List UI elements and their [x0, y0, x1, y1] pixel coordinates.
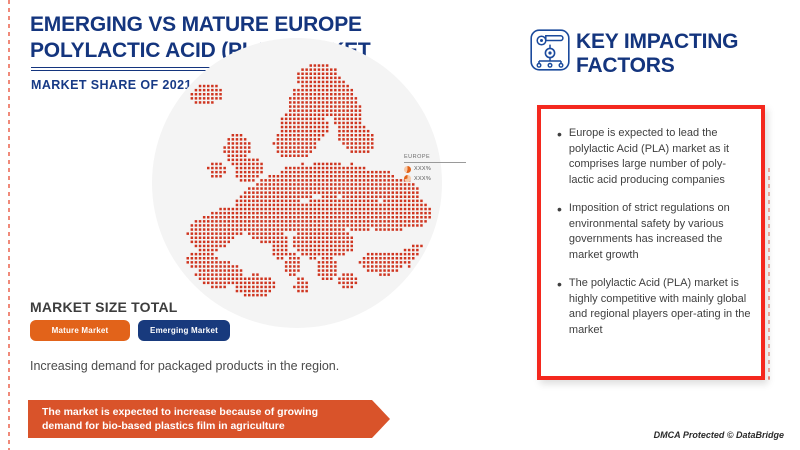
bullet-icon: • [557, 276, 562, 338]
list-item: • The polylactic Acid (PLA) market is hi… [557, 276, 751, 338]
list-item-text: Europe is expected to lead the polylacti… [569, 126, 751, 188]
europe-dot-map [152, 38, 442, 328]
footer-credit: DMCA Protected © DataBridge [654, 430, 784, 440]
key-factors-box: • Europe is expected to lead the polylac… [537, 105, 765, 380]
list-item-text: Imposition of strict regulations on envi… [569, 201, 751, 263]
legend-value: XXX% [414, 176, 431, 182]
map-legend: EUROPE XXX% XXX% [404, 154, 470, 182]
list-item: • Imposition of strict regulations on en… [557, 201, 751, 263]
list-item-text: The polylactic Acid (PLA) market is high… [569, 276, 751, 338]
bullet-icon: • [557, 201, 562, 263]
left-dotted-rail [8, 0, 10, 450]
key-factors-title: KEY IMPACTING FACTORS [576, 30, 776, 78]
lead-statement: Increasing demand for packaged products … [30, 359, 339, 373]
market-size-heading: MARKET SIZE TOTAL [30, 299, 178, 315]
infographic-slide: EMERGING VS MATURE EUROPE POLYLACTIC ACI… [0, 0, 800, 450]
list-item: • Europe is expected to lead the polylac… [557, 126, 751, 188]
bullet-icon: • [557, 126, 562, 188]
highlight-banner: The market is expected to increase becau… [28, 400, 390, 438]
legend-row: XXX% [404, 175, 470, 182]
pill-emerging-market[interactable]: Emerging Market [138, 320, 230, 341]
highlight-banner-text: The market is expected to increase becau… [28, 405, 358, 433]
legend-row: XXX% [404, 166, 470, 173]
market-type-pills: Mature Market Emerging Market [30, 320, 230, 341]
key-factors-list: • Europe is expected to lead the polylac… [541, 109, 761, 338]
pie-chart-icon [404, 175, 411, 182]
right-dotted-rail [768, 168, 770, 383]
pie-chart-icon [404, 166, 411, 173]
legend-title: EUROPE [404, 154, 466, 163]
pill-mature-market[interactable]: Mature Market [30, 320, 130, 341]
legend-value: XXX% [414, 166, 431, 172]
key-network-icon [530, 29, 570, 71]
